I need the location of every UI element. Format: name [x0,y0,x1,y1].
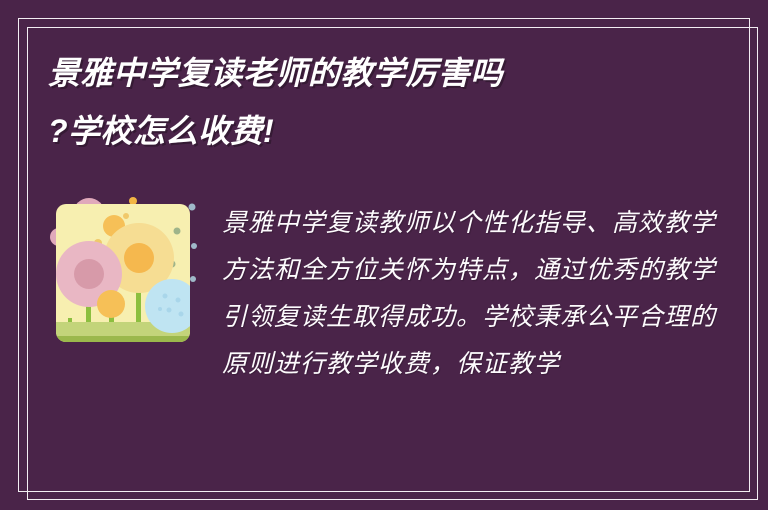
blue-flower-dot-2 [176,298,181,303]
title-line-1: 景雅中学复读老师的教学厉害吗 [48,57,708,89]
poster-canvas: 景雅中学复读老师的教学厉害吗 ?学校怎么收费! [0,0,768,510]
dot-tiny-amber-2 [123,213,129,219]
flower-field-illustration [48,196,198,356]
ground-edge [56,336,190,343]
content-row: 景雅中学复读教师以个性化指导、高效教学方法和全方位关怀为特点，通过优秀的教学引领… [48,196,720,388]
blue-flower-dot-3 [167,308,172,313]
dot-blue-right-lower [190,276,196,282]
dot-blue-topright [189,204,196,211]
blue-flower-dot-1 [163,294,168,299]
dot-blue-right-upper [191,243,197,249]
illustration-container [48,196,198,356]
blue-flower-dot-4 [179,312,184,317]
blue-flower-dot-5 [158,307,162,311]
body-text-container: 景雅中学复读教师以个性化指导、高效教学方法和全方位关怀为特点，通过优秀的教学引领… [222,196,720,388]
orange-flower-small [97,290,125,318]
title-line-2: ?学校怎么收费! [48,115,708,147]
pink-flower-large-center [74,259,104,289]
dot-amber-top [129,197,137,205]
blue-flower [145,279,198,333]
body-paragraph: 景雅中学复读教师以个性化指导、高效教学方法和全方位关怀为特点，通过优秀的教学引领… [222,200,720,388]
dot-olive-1 [174,228,181,235]
yellow-flower-large-center [124,243,154,273]
page-title: 景雅中学复读老师的教学厉害吗 ?学校怎么收费! [48,57,708,147]
